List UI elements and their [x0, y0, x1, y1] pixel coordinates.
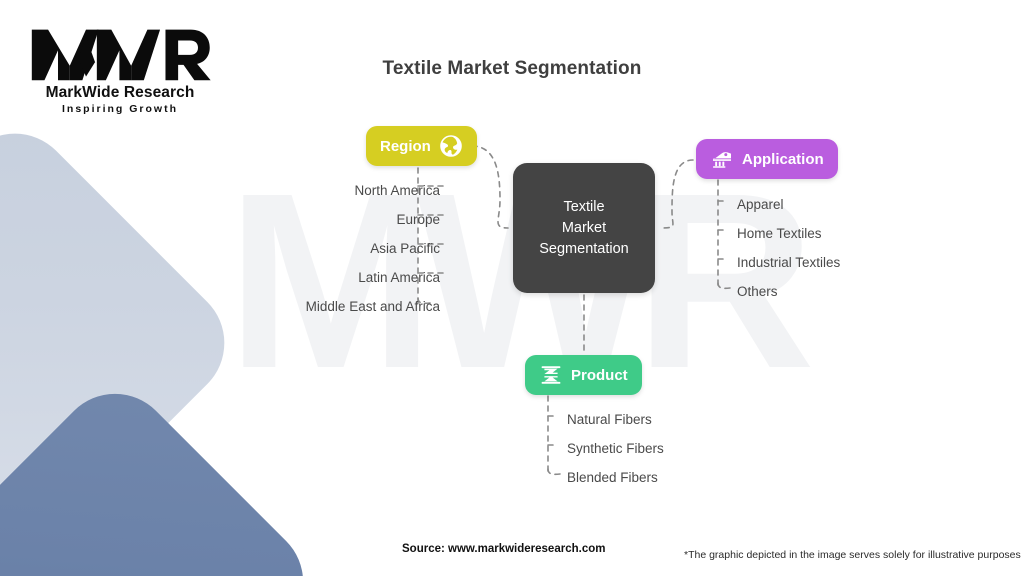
disclaimer-note: *The graphic depicted in the image serve…: [684, 549, 1021, 561]
leaf-item-region-4: Middle East and Africa: [306, 292, 440, 321]
center-node-line-2: Market: [562, 218, 606, 239]
center-node: Textile Market Segmentation: [513, 163, 655, 293]
leaf-item-product-1: Synthetic Fibers: [567, 434, 664, 463]
leaf-item-product-0: Natural Fibers: [567, 405, 652, 434]
brand-name: MarkWide Research: [30, 84, 210, 102]
leaf-list-region: North America Europe Asia Pacific Latin …: [120, 176, 440, 321]
leaf-list-product: Natural Fibers Synthetic Fibers Blended …: [567, 405, 664, 492]
leaf-item-region-1: Europe: [396, 205, 440, 234]
branch-badge-application[interactable]: Application: [696, 139, 838, 179]
leaf-item-region-3: Latin America: [358, 263, 440, 292]
infographic-canvas: MWR MarkWide Research Inspiring Growth T…: [0, 0, 1024, 576]
leaf-item-product-2: Blended Fibers: [567, 463, 658, 492]
fabric-roll-icon: [539, 363, 563, 387]
branch-label-product: Product: [571, 367, 628, 384]
leaf-item-region-2: Asia Pacific: [370, 234, 440, 263]
textile-machine-icon: [710, 147, 734, 171]
leaf-item-application-3: Others: [737, 277, 778, 306]
leaf-item-region-0: North America: [354, 176, 440, 205]
leaf-item-application-0: Apparel: [737, 190, 784, 219]
brand-tagline: Inspiring Growth: [30, 103, 210, 115]
branch-badge-region[interactable]: Region: [366, 126, 477, 166]
source-line: Source: www.markwideresearch.com: [402, 543, 605, 555]
globe-icon: [439, 134, 463, 158]
leaf-item-application-2: Industrial Textiles: [737, 248, 840, 277]
branch-label-region: Region: [380, 138, 431, 155]
leaf-list-application: Apparel Home Textiles Industrial Textile…: [737, 190, 840, 306]
branch-badge-product[interactable]: Product: [525, 355, 642, 395]
leaf-item-application-1: Home Textiles: [737, 219, 822, 248]
center-node-line-1: Textile: [563, 197, 604, 218]
branch-label-application: Application: [742, 151, 824, 168]
page-title: Textile Market Segmentation: [0, 58, 1024, 80]
center-node-line-3: Segmentation: [539, 239, 628, 260]
